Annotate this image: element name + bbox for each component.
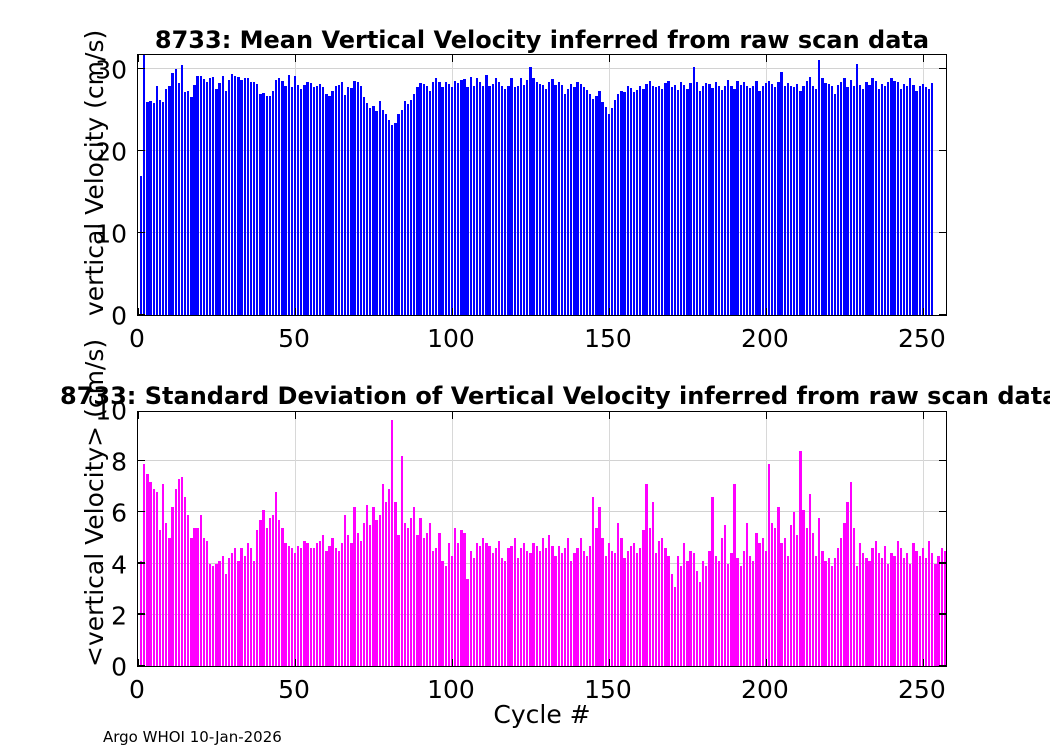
bar [859, 85, 861, 315]
bar [231, 74, 233, 315]
bar [300, 548, 302, 666]
bar [705, 566, 707, 666]
bar [545, 89, 547, 315]
bar [774, 87, 776, 315]
bar [576, 548, 578, 666]
bar [605, 107, 607, 315]
bar [846, 87, 848, 315]
bar [768, 81, 770, 315]
bar [758, 91, 760, 315]
bar [589, 546, 591, 666]
bar [897, 541, 899, 666]
bar [934, 564, 936, 666]
bar [504, 89, 506, 315]
bar [178, 479, 180, 666]
bar [328, 546, 330, 666]
bar [479, 546, 481, 666]
bar [341, 543, 343, 666]
gridline-horizontal [138, 460, 946, 461]
bar [652, 86, 654, 315]
bar [228, 80, 230, 315]
bar [780, 543, 782, 666]
bar [865, 558, 867, 666]
bar [278, 520, 280, 666]
bar [733, 89, 735, 315]
bar [225, 91, 227, 315]
x-tick [766, 659, 767, 666]
x-tick [452, 308, 453, 315]
bar [906, 86, 908, 315]
bar [498, 82, 500, 315]
argo-float-diagnostics-figure: 8733: Mean Vertical Velocity inferred fr… [0, 0, 1050, 750]
bar [740, 85, 742, 315]
y-tick-right [939, 460, 946, 461]
bar [730, 553, 732, 666]
bar [256, 530, 258, 666]
bar [451, 556, 453, 666]
std-velocity-bar-series [138, 412, 946, 666]
bar [871, 548, 873, 666]
bar [645, 84, 647, 315]
bar [664, 83, 666, 315]
bar [922, 548, 924, 666]
bar [281, 81, 283, 315]
bar [423, 538, 425, 666]
bar [203, 79, 205, 315]
bar [771, 523, 773, 666]
bar [196, 76, 198, 315]
bar [350, 88, 352, 315]
bar [730, 86, 732, 315]
bar [445, 566, 447, 666]
bar [875, 81, 877, 315]
bar [689, 83, 691, 315]
bar [140, 176, 142, 315]
bar [394, 502, 396, 666]
bar [495, 78, 497, 315]
bar [143, 54, 145, 315]
bar [564, 94, 566, 315]
bar [818, 518, 820, 666]
bar [419, 83, 421, 315]
bar [586, 90, 588, 315]
bar [404, 523, 406, 666]
bar [878, 553, 880, 666]
x-tick-label: 200 [741, 675, 789, 704]
bar [893, 556, 895, 666]
bar [369, 525, 371, 666]
y-tick-right [939, 314, 946, 315]
bar [595, 528, 597, 666]
bar [259, 94, 261, 315]
bar [551, 546, 553, 666]
bar [297, 546, 299, 666]
bar [288, 75, 290, 315]
bar [614, 553, 616, 666]
x-tick-top [452, 55, 453, 62]
bar [146, 474, 148, 666]
bar [677, 556, 679, 666]
bar [617, 523, 619, 666]
x-tick-top [138, 412, 139, 419]
bar [310, 548, 312, 666]
bar [912, 85, 914, 315]
bar [181, 65, 183, 315]
bar [755, 81, 757, 315]
bar [642, 530, 644, 666]
std-velocity-x-axis-title: Cycle # [493, 700, 590, 729]
bar [567, 538, 569, 666]
bar [529, 553, 531, 666]
bar [432, 82, 434, 315]
bar [708, 551, 710, 666]
x-tick-label: 100 [427, 675, 475, 704]
x-tick-top [295, 55, 296, 62]
bar [793, 87, 795, 315]
bar [884, 86, 886, 315]
bar [909, 78, 911, 315]
bar [435, 78, 437, 315]
bar [347, 87, 349, 315]
bar [278, 78, 280, 315]
bar [818, 60, 820, 315]
bar [171, 73, 173, 315]
bar [153, 489, 155, 666]
bar [438, 82, 440, 315]
bar [749, 88, 751, 315]
x-tick-label: 200 [741, 324, 789, 353]
bar [476, 78, 478, 315]
bar [743, 551, 745, 666]
x-tick-label: 50 [278, 675, 310, 704]
bar [363, 97, 365, 315]
x-tick-label: 250 [898, 675, 946, 704]
y-tick-label: 10 [0, 397, 127, 426]
bar [919, 556, 921, 666]
bar [853, 528, 855, 666]
bar [200, 515, 202, 666]
bar [366, 103, 368, 315]
bar [495, 548, 497, 666]
bar [156, 492, 158, 666]
bar [514, 87, 516, 315]
bar [463, 533, 465, 666]
bar [733, 484, 735, 666]
bar [303, 541, 305, 666]
bar [159, 530, 161, 666]
bar [941, 548, 943, 666]
bar [181, 477, 183, 666]
x-tick-top [609, 55, 610, 62]
bar [212, 77, 214, 315]
bar [520, 548, 522, 666]
y-tick-label: 8 [0, 448, 127, 477]
bar [683, 85, 685, 315]
bar [193, 528, 195, 666]
bar [620, 538, 622, 666]
bar [460, 80, 462, 315]
bar [269, 96, 271, 315]
x-tick [609, 308, 610, 315]
bar [372, 106, 374, 315]
bar [281, 528, 283, 666]
bar [344, 515, 346, 666]
bar [331, 538, 333, 666]
bar [696, 571, 698, 666]
bar [485, 543, 487, 666]
bar [526, 551, 528, 666]
bar [353, 507, 355, 666]
bar [184, 497, 186, 666]
bar [802, 510, 804, 666]
x-tick-top [452, 412, 453, 419]
bar [718, 86, 720, 315]
bar [649, 528, 651, 666]
x-tick [295, 308, 296, 315]
bar [548, 82, 550, 315]
bar [915, 91, 917, 315]
bar [498, 541, 500, 666]
bar [325, 551, 327, 666]
bar [812, 533, 814, 666]
bar [335, 548, 337, 666]
bar [658, 541, 660, 666]
bar [831, 86, 833, 315]
bar [548, 535, 550, 666]
bar [463, 79, 465, 315]
bar [627, 86, 629, 315]
bar [639, 548, 641, 666]
x-tick-label: 100 [427, 324, 475, 353]
bar [736, 558, 738, 666]
bar [325, 94, 327, 315]
bar [407, 104, 409, 315]
bar [322, 535, 324, 666]
bar [837, 85, 839, 315]
x-tick [609, 659, 610, 666]
bar [837, 548, 839, 666]
y-tick-label: 6 [0, 499, 127, 528]
x-tick-top [923, 55, 924, 62]
mean-velocity-title: 8733: Mean Vertical Velocity inferred fr… [137, 26, 947, 54]
bar [517, 86, 519, 315]
bar [821, 78, 823, 315]
bar [190, 97, 192, 315]
bar [162, 102, 164, 315]
y-tick [138, 562, 145, 563]
bar [482, 86, 484, 315]
bar [375, 520, 377, 666]
bar [765, 551, 767, 666]
bar [576, 82, 578, 315]
bar [266, 528, 268, 666]
bar [627, 551, 629, 666]
bar [762, 86, 764, 315]
bar [850, 80, 852, 315]
bar [523, 543, 525, 666]
bar [840, 82, 842, 315]
bar [711, 88, 713, 315]
bar [727, 80, 729, 315]
bar [413, 94, 415, 315]
bar [401, 110, 403, 315]
bar [787, 83, 789, 315]
bar [812, 86, 814, 315]
bar [862, 89, 864, 315]
bar [520, 78, 522, 315]
bar [561, 85, 563, 315]
bar [234, 76, 236, 315]
y-tick-right [939, 511, 946, 512]
mean-velocity-bar-series [138, 55, 946, 315]
bar [821, 551, 823, 666]
bar [451, 87, 453, 315]
bar [884, 546, 886, 666]
bar [300, 89, 302, 315]
x-tick-label: 0 [129, 675, 145, 704]
bar [457, 83, 459, 315]
bar [410, 100, 412, 315]
bar [259, 520, 261, 666]
bar [284, 86, 286, 315]
bar [454, 81, 456, 315]
bar [636, 90, 638, 315]
bar [667, 81, 669, 315]
bar [184, 92, 186, 315]
bar [457, 543, 459, 666]
x-tick-top [923, 412, 924, 419]
x-tick-top [295, 412, 296, 419]
bar [385, 502, 387, 666]
bar [441, 561, 443, 666]
y-tick-right [939, 68, 946, 69]
y-tick-right [939, 150, 946, 151]
bar [881, 558, 883, 666]
bar [203, 538, 205, 666]
bar [680, 566, 682, 666]
x-tick-label: 150 [584, 324, 632, 353]
bar [385, 114, 387, 315]
bar [755, 533, 757, 666]
bar [526, 80, 528, 315]
bar [777, 82, 779, 315]
bar [269, 518, 271, 666]
bar [375, 111, 377, 315]
bar [297, 85, 299, 315]
x-tick [138, 659, 139, 666]
bar [162, 484, 164, 666]
bar [843, 78, 845, 315]
bar [510, 546, 512, 666]
bar [906, 553, 908, 666]
bar [868, 561, 870, 666]
bar [187, 91, 189, 315]
bar [225, 574, 227, 666]
bar [366, 505, 368, 666]
bar [369, 108, 371, 315]
bar [715, 82, 717, 315]
bar [218, 83, 220, 315]
bar [476, 543, 478, 666]
bar [222, 76, 224, 315]
bar [294, 76, 296, 315]
bar [416, 535, 418, 666]
bar [532, 78, 534, 315]
bar [645, 484, 647, 666]
bar [187, 515, 189, 666]
bar [897, 82, 899, 315]
bar [551, 79, 553, 315]
bar [435, 548, 437, 666]
y-tick-right [939, 232, 946, 233]
x-tick [766, 308, 767, 315]
y-tick [138, 68, 145, 69]
x-tick-top [609, 412, 610, 419]
bar [266, 96, 268, 315]
bar [507, 86, 509, 315]
bar [655, 87, 657, 315]
x-tick-top [138, 55, 139, 62]
bar [536, 546, 538, 666]
bar [887, 564, 889, 666]
bar [887, 82, 889, 315]
bar [438, 533, 440, 666]
bar [853, 86, 855, 315]
bar [592, 497, 594, 666]
bar [768, 464, 770, 666]
bar [639, 86, 641, 315]
bar [630, 88, 632, 315]
bar [501, 558, 503, 666]
bar [614, 100, 616, 315]
bar [693, 67, 695, 315]
bar [319, 84, 321, 315]
bar [620, 91, 622, 315]
x-tick [923, 659, 924, 666]
bar [752, 86, 754, 315]
bar [740, 566, 742, 666]
bar [253, 82, 255, 315]
bar [165, 523, 167, 666]
y-tick-right [939, 613, 946, 614]
bar [834, 558, 836, 666]
bar [514, 538, 516, 666]
bar [693, 553, 695, 666]
bar [592, 99, 594, 315]
bar [237, 77, 239, 315]
y-tick-label: 20 [0, 138, 127, 167]
y-tick-label: 2 [0, 601, 127, 630]
gridline-horizontal [138, 511, 946, 512]
bar [247, 543, 249, 666]
bar [661, 538, 663, 666]
y-tick-label: 4 [0, 550, 127, 579]
bar [828, 84, 830, 315]
bar [699, 582, 701, 666]
bar [341, 82, 343, 315]
bar [903, 558, 905, 666]
bar [429, 91, 431, 315]
bar [272, 91, 274, 315]
bar [529, 67, 531, 315]
bar [284, 543, 286, 666]
bar [846, 502, 848, 666]
bar [275, 492, 277, 666]
bar [291, 548, 293, 666]
bar [636, 553, 638, 666]
bar [928, 541, 930, 666]
bar [859, 543, 861, 666]
